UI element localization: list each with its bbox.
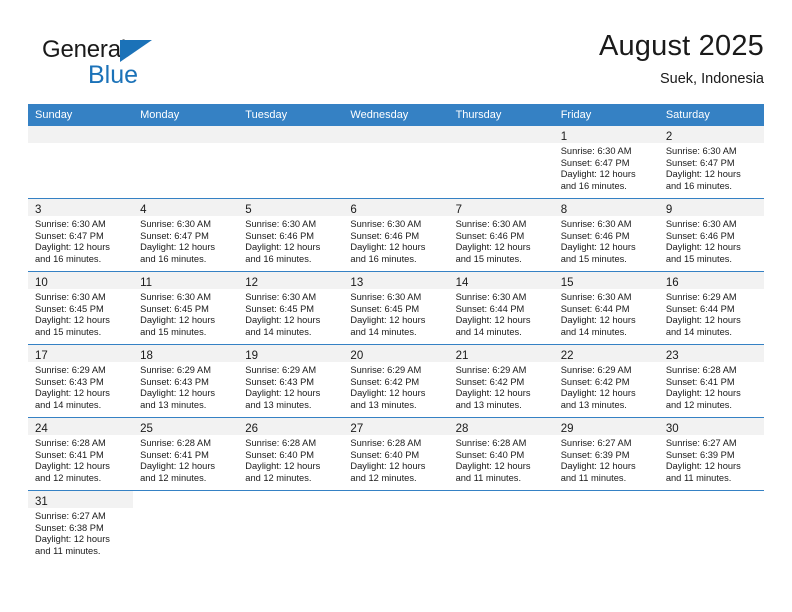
- day-number-band: [659, 491, 764, 508]
- calendar-week-row: 17Sunrise: 6:29 AMSunset: 6:43 PMDayligh…: [28, 345, 764, 418]
- daylight-text-cont: and 15 minutes.: [561, 254, 654, 266]
- day-number: 15: [561, 277, 574, 289]
- sunset-text: Sunset: 6:42 PM: [561, 377, 654, 389]
- brand-name-blue: Blue: [88, 60, 138, 90]
- daylight-text-cont: and 16 minutes.: [666, 181, 759, 193]
- day-detail-lines: Sunrise: 6:30 AMSunset: 6:44 PMDaylight:…: [449, 289, 554, 338]
- day-number-band: 29: [554, 418, 659, 435]
- sunrise-text: Sunrise: 6:30 AM: [561, 219, 654, 231]
- sunset-text: Sunset: 6:45 PM: [35, 304, 128, 316]
- day-detail-lines: Sunrise: 6:28 AMSunset: 6:41 PMDaylight:…: [28, 435, 133, 484]
- daylight-text: Daylight: 12 hours: [561, 169, 654, 181]
- sunset-text: Sunset: 6:40 PM: [245, 450, 338, 462]
- calendar-cell: 6Sunrise: 6:30 AMSunset: 6:46 PMDaylight…: [343, 199, 448, 272]
- daylight-text-cont: and 14 minutes.: [35, 400, 128, 412]
- daylight-text: Daylight: 12 hours: [561, 461, 654, 473]
- day-detail-lines: Sunrise: 6:28 AMSunset: 6:40 PMDaylight:…: [238, 435, 343, 484]
- day-number-band: 1: [554, 126, 659, 143]
- calendar-cell: 30Sunrise: 6:27 AMSunset: 6:39 PMDayligh…: [659, 418, 764, 491]
- day-cell[interactable]: 21Sunrise: 6:29 AMSunset: 6:42 PMDayligh…: [449, 345, 554, 417]
- sunrise-text: Sunrise: 6:29 AM: [245, 365, 338, 377]
- day-cell[interactable]: 25Sunrise: 6:28 AMSunset: 6:41 PMDayligh…: [133, 418, 238, 490]
- sunset-text: Sunset: 6:41 PM: [140, 450, 233, 462]
- day-number-band: [449, 491, 554, 508]
- day-number-band: 14: [449, 272, 554, 289]
- day-number-band: 10: [28, 272, 133, 289]
- day-cell[interactable]: 23Sunrise: 6:28 AMSunset: 6:41 PMDayligh…: [659, 345, 764, 417]
- daylight-text-cont: and 12 minutes.: [350, 473, 443, 485]
- sunrise-text: Sunrise: 6:28 AM: [666, 365, 759, 377]
- daylight-text: Daylight: 12 hours: [456, 461, 549, 473]
- day-detail-lines: Sunrise: 6:30 AMSunset: 6:46 PMDaylight:…: [449, 216, 554, 265]
- sunset-text: Sunset: 6:46 PM: [456, 231, 549, 243]
- day-detail-lines: Sunrise: 6:27 AMSunset: 6:39 PMDaylight:…: [554, 435, 659, 484]
- day-detail-lines: Sunrise: 6:30 AMSunset: 6:47 PMDaylight:…: [133, 216, 238, 265]
- sunset-text: Sunset: 6:40 PM: [350, 450, 443, 462]
- day-number-band: 12: [238, 272, 343, 289]
- day-detail-lines: Sunrise: 6:30 AMSunset: 6:46 PMDaylight:…: [343, 216, 448, 265]
- brand-triangle-icon: [120, 40, 152, 62]
- day-detail-lines: Sunrise: 6:27 AMSunset: 6:39 PMDaylight:…: [659, 435, 764, 484]
- day-number-band: 27: [343, 418, 448, 435]
- day-number-band: [343, 491, 448, 508]
- daylight-text: Daylight: 12 hours: [666, 461, 759, 473]
- empty-day-cell: [449, 126, 554, 198]
- daylight-text-cont: and 11 minutes.: [456, 473, 549, 485]
- day-number-band: [133, 126, 238, 143]
- sunset-text: Sunset: 6:46 PM: [245, 231, 338, 243]
- daylight-text-cont: and 11 minutes.: [35, 546, 128, 558]
- daylight-text-cont: and 11 minutes.: [666, 473, 759, 485]
- daylight-text: Daylight: 12 hours: [35, 534, 128, 546]
- day-number-band: 26: [238, 418, 343, 435]
- daylight-text: Daylight: 12 hours: [245, 461, 338, 473]
- daylight-text: Daylight: 12 hours: [245, 388, 338, 400]
- day-cell[interactable]: 2Sunrise: 6:30 AMSunset: 6:47 PMDaylight…: [659, 126, 764, 198]
- day-number-band: [343, 126, 448, 143]
- day-cell[interactable]: 31Sunrise: 6:27 AMSunset: 6:38 PMDayligh…: [28, 491, 133, 563]
- day-number-band: 20: [343, 345, 448, 362]
- day-detail-lines: [238, 143, 343, 146]
- calendar-cell: 9Sunrise: 6:30 AMSunset: 6:46 PMDaylight…: [659, 199, 764, 272]
- calendar-week-row: 10Sunrise: 6:30 AMSunset: 6:45 PMDayligh…: [28, 272, 764, 345]
- calendar-cell: [659, 491, 764, 564]
- daylight-text-cont: and 14 minutes.: [350, 327, 443, 339]
- daylight-text-cont: and 13 minutes.: [350, 400, 443, 412]
- weekday-header-tuesday: Tuesday: [238, 104, 343, 126]
- daylight-text: Daylight: 12 hours: [350, 388, 443, 400]
- empty-day-cell: [28, 126, 133, 198]
- day-detail-lines: [449, 143, 554, 146]
- sunrise-text: Sunrise: 6:30 AM: [666, 146, 759, 158]
- day-number: 16: [666, 277, 679, 289]
- sunrise-text: Sunrise: 6:30 AM: [140, 219, 233, 231]
- sunrise-text: Sunrise: 6:30 AM: [561, 146, 654, 158]
- day-detail-lines: Sunrise: 6:30 AMSunset: 6:47 PMDaylight:…: [28, 216, 133, 265]
- page-title: August 2025: [599, 28, 764, 64]
- day-detail-lines: Sunrise: 6:30 AMSunset: 6:44 PMDaylight:…: [554, 289, 659, 338]
- sunrise-text: Sunrise: 6:29 AM: [561, 365, 654, 377]
- day-number-band: 7: [449, 199, 554, 216]
- calendar-table: SundayMondayTuesdayWednesdayThursdayFrid…: [28, 104, 764, 563]
- day-cell[interactable]: 26Sunrise: 6:28 AMSunset: 6:40 PMDayligh…: [238, 418, 343, 490]
- sunset-text: Sunset: 6:42 PM: [456, 377, 549, 389]
- day-detail-lines: Sunrise: 6:29 AMSunset: 6:42 PMDaylight:…: [343, 362, 448, 411]
- daylight-text-cont: and 15 minutes.: [666, 254, 759, 266]
- day-detail-lines: Sunrise: 6:30 AMSunset: 6:47 PMDaylight:…: [659, 143, 764, 192]
- sunrise-text: Sunrise: 6:30 AM: [35, 219, 128, 231]
- daylight-text-cont: and 13 minutes.: [456, 400, 549, 412]
- daylight-text: Daylight: 12 hours: [456, 388, 549, 400]
- calendar-cell: 23Sunrise: 6:28 AMSunset: 6:41 PMDayligh…: [659, 345, 764, 418]
- day-cell[interactable]: 14Sunrise: 6:30 AMSunset: 6:44 PMDayligh…: [449, 272, 554, 344]
- day-cell[interactable]: 11Sunrise: 6:30 AMSunset: 6:45 PMDayligh…: [133, 272, 238, 344]
- sunrise-text: Sunrise: 6:27 AM: [35, 511, 128, 523]
- calendar-cell: 12Sunrise: 6:30 AMSunset: 6:45 PMDayligh…: [238, 272, 343, 345]
- daylight-text: Daylight: 12 hours: [456, 242, 549, 254]
- day-number: 30: [666, 423, 679, 435]
- day-detail-lines: Sunrise: 6:29 AMSunset: 6:44 PMDaylight:…: [659, 289, 764, 338]
- calendar-week-row: 3Sunrise: 6:30 AMSunset: 6:47 PMDaylight…: [28, 199, 764, 272]
- calendar-cell: [28, 126, 133, 199]
- day-detail-lines: [238, 508, 343, 511]
- daylight-text: Daylight: 12 hours: [35, 461, 128, 473]
- sunset-text: Sunset: 6:46 PM: [561, 231, 654, 243]
- calendar-cell: [449, 491, 554, 564]
- sunset-text: Sunset: 6:40 PM: [456, 450, 549, 462]
- day-number: 18: [140, 350, 153, 362]
- daylight-text: Daylight: 12 hours: [35, 242, 128, 254]
- day-cell[interactable]: 10Sunrise: 6:30 AMSunset: 6:45 PMDayligh…: [28, 272, 133, 344]
- calendar-cell: 27Sunrise: 6:28 AMSunset: 6:40 PMDayligh…: [343, 418, 448, 491]
- calendar-cell: 29Sunrise: 6:27 AMSunset: 6:39 PMDayligh…: [554, 418, 659, 491]
- daylight-text-cont: and 16 minutes.: [140, 254, 233, 266]
- sunset-text: Sunset: 6:43 PM: [245, 377, 338, 389]
- day-detail-lines: Sunrise: 6:30 AMSunset: 6:45 PMDaylight:…: [238, 289, 343, 338]
- weekday-header-sunday: Sunday: [28, 104, 133, 126]
- day-cell[interactable]: 7Sunrise: 6:30 AMSunset: 6:46 PMDaylight…: [449, 199, 554, 271]
- day-detail-lines: Sunrise: 6:28 AMSunset: 6:40 PMDaylight:…: [343, 435, 448, 484]
- day-cell[interactable]: 9Sunrise: 6:30 AMSunset: 6:46 PMDaylight…: [659, 199, 764, 271]
- daylight-text: Daylight: 12 hours: [35, 388, 128, 400]
- day-number: 22: [561, 350, 574, 362]
- day-detail-lines: Sunrise: 6:29 AMSunset: 6:42 PMDaylight:…: [554, 362, 659, 411]
- day-number-band: [554, 491, 659, 508]
- day-cell[interactable]: 24Sunrise: 6:28 AMSunset: 6:41 PMDayligh…: [28, 418, 133, 490]
- day-number-band: 4: [133, 199, 238, 216]
- sunrise-text: Sunrise: 6:30 AM: [456, 292, 549, 304]
- calendar-week-row: 1Sunrise: 6:30 AMSunset: 6:47 PMDaylight…: [28, 126, 764, 199]
- day-detail-lines: Sunrise: 6:29 AMSunset: 6:43 PMDaylight:…: [238, 362, 343, 411]
- daylight-text: Daylight: 12 hours: [561, 242, 654, 254]
- calendar-cell: 18Sunrise: 6:29 AMSunset: 6:43 PMDayligh…: [133, 345, 238, 418]
- day-number: 2: [666, 131, 672, 143]
- sunset-text: Sunset: 6:46 PM: [350, 231, 443, 243]
- daylight-text: Daylight: 12 hours: [666, 388, 759, 400]
- day-detail-lines: Sunrise: 6:30 AMSunset: 6:45 PMDaylight:…: [343, 289, 448, 338]
- daylight-text: Daylight: 12 hours: [350, 461, 443, 473]
- calendar-cell: 2Sunrise: 6:30 AMSunset: 6:47 PMDaylight…: [659, 126, 764, 199]
- calendar-cell: 19Sunrise: 6:29 AMSunset: 6:43 PMDayligh…: [238, 345, 343, 418]
- day-number: 23: [666, 350, 679, 362]
- calendar-cell: 8Sunrise: 6:30 AMSunset: 6:46 PMDaylight…: [554, 199, 659, 272]
- day-detail-lines: Sunrise: 6:30 AMSunset: 6:45 PMDaylight:…: [133, 289, 238, 338]
- daylight-text: Daylight: 12 hours: [456, 315, 549, 327]
- day-number: 5: [245, 204, 251, 216]
- sunrise-text: Sunrise: 6:28 AM: [245, 438, 338, 450]
- sunrise-text: Sunrise: 6:30 AM: [456, 219, 549, 231]
- day-cell[interactable]: 18Sunrise: 6:29 AMSunset: 6:43 PMDayligh…: [133, 345, 238, 417]
- daylight-text-cont: and 14 minutes.: [245, 327, 338, 339]
- day-number: 14: [456, 277, 469, 289]
- day-cell[interactable]: 30Sunrise: 6:27 AMSunset: 6:39 PMDayligh…: [659, 418, 764, 490]
- day-number: 20: [350, 350, 363, 362]
- day-number: 6: [350, 204, 356, 216]
- daylight-text-cont: and 13 minutes.: [561, 400, 654, 412]
- daylight-text-cont: and 16 minutes.: [561, 181, 654, 193]
- day-cell[interactable]: 15Sunrise: 6:30 AMSunset: 6:44 PMDayligh…: [554, 272, 659, 344]
- day-cell[interactable]: 27Sunrise: 6:28 AMSunset: 6:40 PMDayligh…: [343, 418, 448, 490]
- day-number: 27: [350, 423, 363, 435]
- calendar-header-row: SundayMondayTuesdayWednesdayThursdayFrid…: [28, 104, 764, 126]
- day-number-band: 6: [343, 199, 448, 216]
- day-number-band: 22: [554, 345, 659, 362]
- day-cell[interactable]: 3Sunrise: 6:30 AMSunset: 6:47 PMDaylight…: [28, 199, 133, 271]
- daylight-text: Daylight: 12 hours: [140, 315, 233, 327]
- day-detail-lines: Sunrise: 6:27 AMSunset: 6:38 PMDaylight:…: [28, 508, 133, 557]
- calendar-cell: 14Sunrise: 6:30 AMSunset: 6:44 PMDayligh…: [449, 272, 554, 345]
- calendar-cell: 16Sunrise: 6:29 AMSunset: 6:44 PMDayligh…: [659, 272, 764, 345]
- day-detail-lines: Sunrise: 6:28 AMSunset: 6:40 PMDaylight:…: [449, 435, 554, 484]
- sunrise-text: Sunrise: 6:30 AM: [35, 292, 128, 304]
- day-number-band: 24: [28, 418, 133, 435]
- page-subtitle: Suek, Indonesia: [599, 68, 764, 90]
- sunset-text: Sunset: 6:47 PM: [35, 231, 128, 243]
- day-detail-lines: Sunrise: 6:29 AMSunset: 6:42 PMDaylight:…: [449, 362, 554, 411]
- day-number: 3: [35, 204, 41, 216]
- day-number: 28: [456, 423, 469, 435]
- daylight-text-cont: and 14 minutes.: [456, 327, 549, 339]
- empty-day-cell: [449, 491, 554, 563]
- sunrise-text: Sunrise: 6:28 AM: [140, 438, 233, 450]
- day-number: 19: [245, 350, 258, 362]
- daylight-text-cont: and 12 minutes.: [140, 473, 233, 485]
- calendar-cell: 3Sunrise: 6:30 AMSunset: 6:47 PMDaylight…: [28, 199, 133, 272]
- day-number-band: 11: [133, 272, 238, 289]
- sunrise-text: Sunrise: 6:29 AM: [140, 365, 233, 377]
- sunrise-text: Sunrise: 6:29 AM: [35, 365, 128, 377]
- calendar-cell: 28Sunrise: 6:28 AMSunset: 6:40 PMDayligh…: [449, 418, 554, 491]
- day-number-band: 9: [659, 199, 764, 216]
- calendar-cell: [238, 491, 343, 564]
- daylight-text: Daylight: 12 hours: [350, 242, 443, 254]
- day-cell[interactable]: 4Sunrise: 6:30 AMSunset: 6:47 PMDaylight…: [133, 199, 238, 271]
- day-cell[interactable]: 16Sunrise: 6:29 AMSunset: 6:44 PMDayligh…: [659, 272, 764, 344]
- calendar-cell: 26Sunrise: 6:28 AMSunset: 6:40 PMDayligh…: [238, 418, 343, 491]
- day-cell[interactable]: 17Sunrise: 6:29 AMSunset: 6:43 PMDayligh…: [28, 345, 133, 417]
- day-number-band: 13: [343, 272, 448, 289]
- day-number: 21: [456, 350, 469, 362]
- empty-day-cell: [238, 126, 343, 198]
- calendar-cell: [343, 126, 448, 199]
- day-cell[interactable]: 28Sunrise: 6:28 AMSunset: 6:40 PMDayligh…: [449, 418, 554, 490]
- sunset-text: Sunset: 6:39 PM: [561, 450, 654, 462]
- calendar-body: 1Sunrise: 6:30 AMSunset: 6:47 PMDaylight…: [28, 126, 764, 563]
- calendar-week-row: 24Sunrise: 6:28 AMSunset: 6:41 PMDayligh…: [28, 418, 764, 491]
- calendar-cell: 13Sunrise: 6:30 AMSunset: 6:45 PMDayligh…: [343, 272, 448, 345]
- day-cell[interactable]: 20Sunrise: 6:29 AMSunset: 6:42 PMDayligh…: [343, 345, 448, 417]
- daylight-text-cont: and 11 minutes.: [561, 473, 654, 485]
- day-detail-lines: Sunrise: 6:30 AMSunset: 6:46 PMDaylight:…: [238, 216, 343, 265]
- sunset-text: Sunset: 6:38 PM: [35, 523, 128, 535]
- weekday-header-friday: Friday: [554, 104, 659, 126]
- empty-day-cell: [554, 491, 659, 563]
- sunrise-text: Sunrise: 6:30 AM: [245, 219, 338, 231]
- day-detail-lines: [343, 508, 448, 511]
- calendar-cell: 7Sunrise: 6:30 AMSunset: 6:46 PMDaylight…: [449, 199, 554, 272]
- day-detail-lines: Sunrise: 6:30 AMSunset: 6:46 PMDaylight:…: [554, 216, 659, 265]
- day-detail-lines: Sunrise: 6:30 AMSunset: 6:46 PMDaylight:…: [659, 216, 764, 265]
- sunrise-text: Sunrise: 6:30 AM: [140, 292, 233, 304]
- sunrise-text: Sunrise: 6:27 AM: [666, 438, 759, 450]
- day-number-band: 19: [238, 345, 343, 362]
- day-number: 1: [561, 131, 567, 143]
- day-detail-lines: Sunrise: 6:28 AMSunset: 6:41 PMDaylight:…: [133, 435, 238, 484]
- day-number: 24: [35, 423, 48, 435]
- weekday-header-wednesday: Wednesday: [343, 104, 448, 126]
- day-number-band: 17: [28, 345, 133, 362]
- sunset-text: Sunset: 6:43 PM: [35, 377, 128, 389]
- daylight-text-cont: and 12 minutes.: [666, 400, 759, 412]
- empty-day-cell: [238, 491, 343, 563]
- day-cell[interactable]: 19Sunrise: 6:29 AMSunset: 6:43 PMDayligh…: [238, 345, 343, 417]
- day-number-band: 5: [238, 199, 343, 216]
- day-number: 17: [35, 350, 48, 362]
- daylight-text: Daylight: 12 hours: [666, 242, 759, 254]
- daylight-text-cont: and 14 minutes.: [561, 327, 654, 339]
- sunset-text: Sunset: 6:44 PM: [561, 304, 654, 316]
- sunset-text: Sunset: 6:45 PM: [245, 304, 338, 316]
- calendar-cell: 10Sunrise: 6:30 AMSunset: 6:45 PMDayligh…: [28, 272, 133, 345]
- daylight-text: Daylight: 12 hours: [666, 315, 759, 327]
- day-number-band: 25: [133, 418, 238, 435]
- day-number-band: 31: [28, 491, 133, 508]
- calendar-cell: 15Sunrise: 6:30 AMSunset: 6:44 PMDayligh…: [554, 272, 659, 345]
- calendar-cell: 4Sunrise: 6:30 AMSunset: 6:47 PMDaylight…: [133, 199, 238, 272]
- page-header: General Blue August 2025 Suek, Indonesia: [28, 28, 764, 100]
- calendar-cell: 1Sunrise: 6:30 AMSunset: 6:47 PMDaylight…: [554, 126, 659, 199]
- daylight-text-cont: and 14 minutes.: [666, 327, 759, 339]
- day-number: 10: [35, 277, 48, 289]
- day-detail-lines: Sunrise: 6:30 AMSunset: 6:45 PMDaylight:…: [28, 289, 133, 338]
- day-cell[interactable]: 13Sunrise: 6:30 AMSunset: 6:45 PMDayligh…: [343, 272, 448, 344]
- daylight-text: Daylight: 12 hours: [245, 315, 338, 327]
- day-detail-lines: [659, 508, 764, 511]
- calendar-cell: [343, 491, 448, 564]
- brand-logo[interactable]: General Blue: [28, 36, 228, 96]
- calendar-cell: [238, 126, 343, 199]
- day-detail-lines: [28, 143, 133, 146]
- daylight-text-cont: and 12 minutes.: [245, 473, 338, 485]
- calendar-cell: 22Sunrise: 6:29 AMSunset: 6:42 PMDayligh…: [554, 345, 659, 418]
- day-number: 12: [245, 277, 258, 289]
- day-cell[interactable]: 6Sunrise: 6:30 AMSunset: 6:46 PMDaylight…: [343, 199, 448, 271]
- sunrise-text: Sunrise: 6:29 AM: [666, 292, 759, 304]
- day-cell[interactable]: 5Sunrise: 6:30 AMSunset: 6:46 PMDaylight…: [238, 199, 343, 271]
- sunset-text: Sunset: 6:44 PM: [666, 304, 759, 316]
- sunset-text: Sunset: 6:45 PM: [350, 304, 443, 316]
- daylight-text-cont: and 16 minutes.: [35, 254, 128, 266]
- daylight-text: Daylight: 12 hours: [245, 242, 338, 254]
- sunrise-text: Sunrise: 6:29 AM: [350, 365, 443, 377]
- day-cell[interactable]: 22Sunrise: 6:29 AMSunset: 6:42 PMDayligh…: [554, 345, 659, 417]
- sunrise-text: Sunrise: 6:28 AM: [35, 438, 128, 450]
- day-number-band: 21: [449, 345, 554, 362]
- day-detail-lines: Sunrise: 6:28 AMSunset: 6:41 PMDaylight:…: [659, 362, 764, 411]
- daylight-text-cont: and 15 minutes.: [35, 327, 128, 339]
- day-number-band: 18: [133, 345, 238, 362]
- weekday-header-thursday: Thursday: [449, 104, 554, 126]
- daylight-text: Daylight: 12 hours: [140, 461, 233, 473]
- calendar-cell: 21Sunrise: 6:29 AMSunset: 6:42 PMDayligh…: [449, 345, 554, 418]
- day-number: 25: [140, 423, 153, 435]
- empty-day-cell: [133, 491, 238, 563]
- empty-day-cell: [659, 491, 764, 563]
- daylight-text-cont: and 12 minutes.: [35, 473, 128, 485]
- weekday-header-saturday: Saturday: [659, 104, 764, 126]
- daylight-text: Daylight: 12 hours: [561, 388, 654, 400]
- title-block: August 2025 Suek, Indonesia: [599, 28, 764, 90]
- calendar-page: General Blue August 2025 Suek, Indonesia…: [0, 0, 792, 612]
- calendar-cell: 25Sunrise: 6:28 AMSunset: 6:41 PMDayligh…: [133, 418, 238, 491]
- weekday-header-monday: Monday: [133, 104, 238, 126]
- sunset-text: Sunset: 6:47 PM: [666, 158, 759, 170]
- calendar-cell: 11Sunrise: 6:30 AMSunset: 6:45 PMDayligh…: [133, 272, 238, 345]
- day-number: 26: [245, 423, 258, 435]
- day-cell[interactable]: 1Sunrise: 6:30 AMSunset: 6:47 PMDaylight…: [554, 126, 659, 198]
- calendar-week-row: 31Sunrise: 6:27 AMSunset: 6:38 PMDayligh…: [28, 491, 764, 564]
- sunrise-text: Sunrise: 6:30 AM: [350, 292, 443, 304]
- day-number-band: [28, 126, 133, 143]
- day-number-band: [238, 126, 343, 143]
- day-number: 13: [350, 277, 363, 289]
- day-detail-lines: [554, 508, 659, 511]
- day-number-band: 15: [554, 272, 659, 289]
- day-detail-lines: [449, 508, 554, 511]
- sunrise-text: Sunrise: 6:30 AM: [666, 219, 759, 231]
- day-number-band: 8: [554, 199, 659, 216]
- day-cell[interactable]: 12Sunrise: 6:30 AMSunset: 6:45 PMDayligh…: [238, 272, 343, 344]
- day-number: 29: [561, 423, 574, 435]
- calendar-cell: [133, 491, 238, 564]
- daylight-text-cont: and 16 minutes.: [350, 254, 443, 266]
- sunrise-text: Sunrise: 6:30 AM: [350, 219, 443, 231]
- daylight-text: Daylight: 12 hours: [140, 242, 233, 254]
- day-cell[interactable]: 29Sunrise: 6:27 AMSunset: 6:39 PMDayligh…: [554, 418, 659, 490]
- calendar-cell: [554, 491, 659, 564]
- sunrise-text: Sunrise: 6:30 AM: [561, 292, 654, 304]
- daylight-text-cont: and 16 minutes.: [245, 254, 338, 266]
- sunset-text: Sunset: 6:42 PM: [350, 377, 443, 389]
- day-number: 31: [35, 496, 48, 508]
- day-cell[interactable]: 8Sunrise: 6:30 AMSunset: 6:46 PMDaylight…: [554, 199, 659, 271]
- day-number: 7: [456, 204, 462, 216]
- sunrise-text: Sunrise: 6:27 AM: [561, 438, 654, 450]
- day-number-band: 16: [659, 272, 764, 289]
- sunset-text: Sunset: 6:44 PM: [456, 304, 549, 316]
- sunset-text: Sunset: 6:41 PM: [666, 377, 759, 389]
- sunrise-text: Sunrise: 6:29 AM: [456, 365, 549, 377]
